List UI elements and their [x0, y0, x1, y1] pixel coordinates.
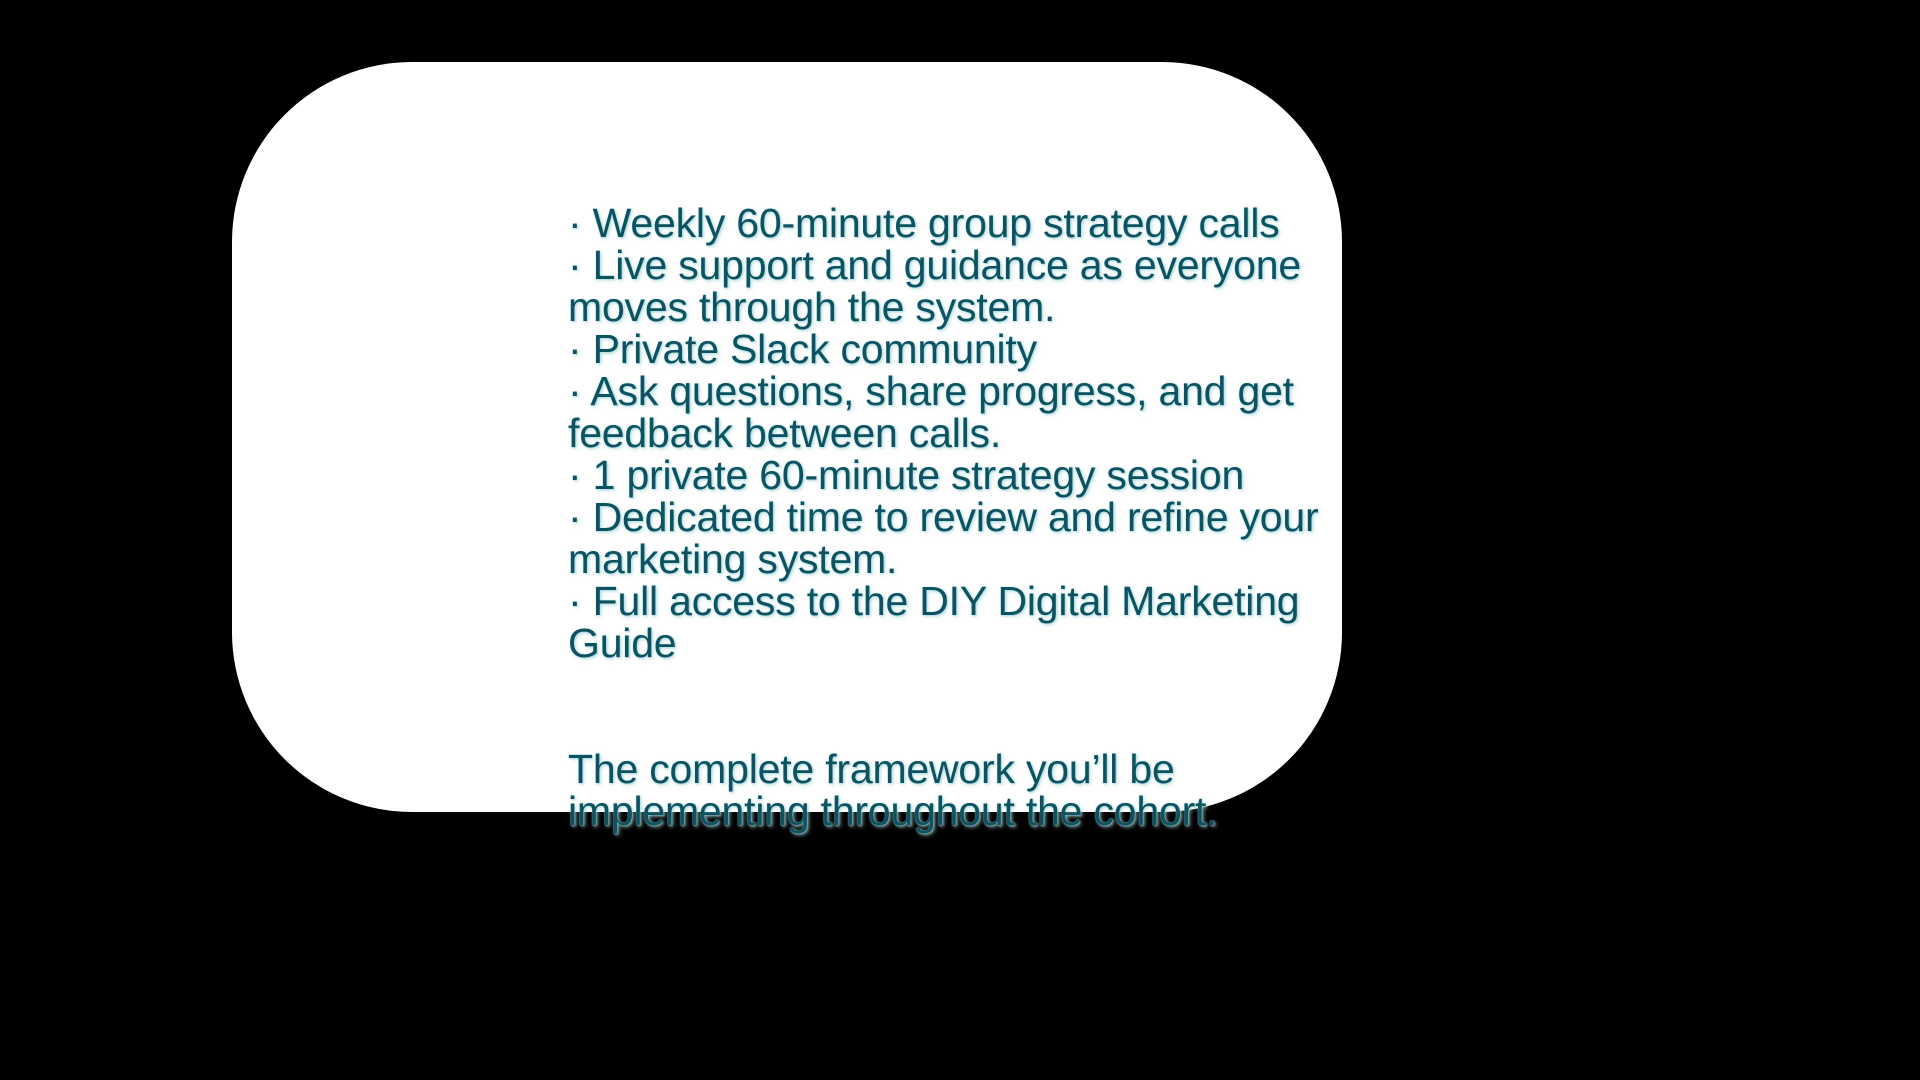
- closing-line-1: The complete framework you’ll be: [568, 748, 1468, 790]
- bullet-line-1: · Weekly 60-minute group strategy calls: [568, 202, 1468, 244]
- bullet-line-9: marketing system.: [568, 538, 1468, 580]
- bullet-line-4: · Private Slack community: [568, 328, 1468, 370]
- list-item: · Dedicated time to review and refine yo…: [568, 496, 1468, 580]
- bullet-line-6: feedback between calls.: [568, 412, 1468, 454]
- closing-line-2: implementing throughout the cohort.: [568, 790, 1468, 832]
- bullet-line-2: · Live support and guidance as everyone: [568, 244, 1468, 286]
- paragraph-spacer: [568, 664, 1468, 748]
- screenshot-root: · Weekly 60-minute group strategy calls …: [0, 0, 1920, 1080]
- bullet-line-10: · Full access to the DIY Digital Marketi…: [568, 580, 1468, 622]
- content-card: · Weekly 60-minute group strategy calls …: [232, 62, 1342, 812]
- bullet-line-3: moves through the system.: [568, 286, 1468, 328]
- list-item: · 1 private 60-minute strategy session: [568, 454, 1468, 496]
- bullet-line-11: Guide: [568, 622, 1468, 664]
- list-item: · Full access to the DIY Digital Marketi…: [568, 580, 1468, 664]
- list-item: · Ask questions, share progress, and get…: [568, 370, 1468, 454]
- bullet-line-8: · Dedicated time to review and refine yo…: [568, 496, 1468, 538]
- list-item: · Private Slack community: [568, 328, 1468, 370]
- list-item: · Live support and guidance as everyone …: [568, 244, 1468, 328]
- bullet-line-7: · 1 private 60-minute strategy session: [568, 454, 1468, 496]
- list-item: · Weekly 60-minute group strategy calls: [568, 202, 1468, 244]
- closing-paragraph: The complete framework you’ll be impleme…: [568, 748, 1468, 832]
- bullet-line-5: · Ask questions, share progress, and get: [568, 370, 1468, 412]
- benefits-bullet-list: · Weekly 60-minute group strategy calls …: [568, 202, 1468, 664]
- card-text-block: · Weekly 60-minute group strategy calls …: [568, 202, 1468, 832]
